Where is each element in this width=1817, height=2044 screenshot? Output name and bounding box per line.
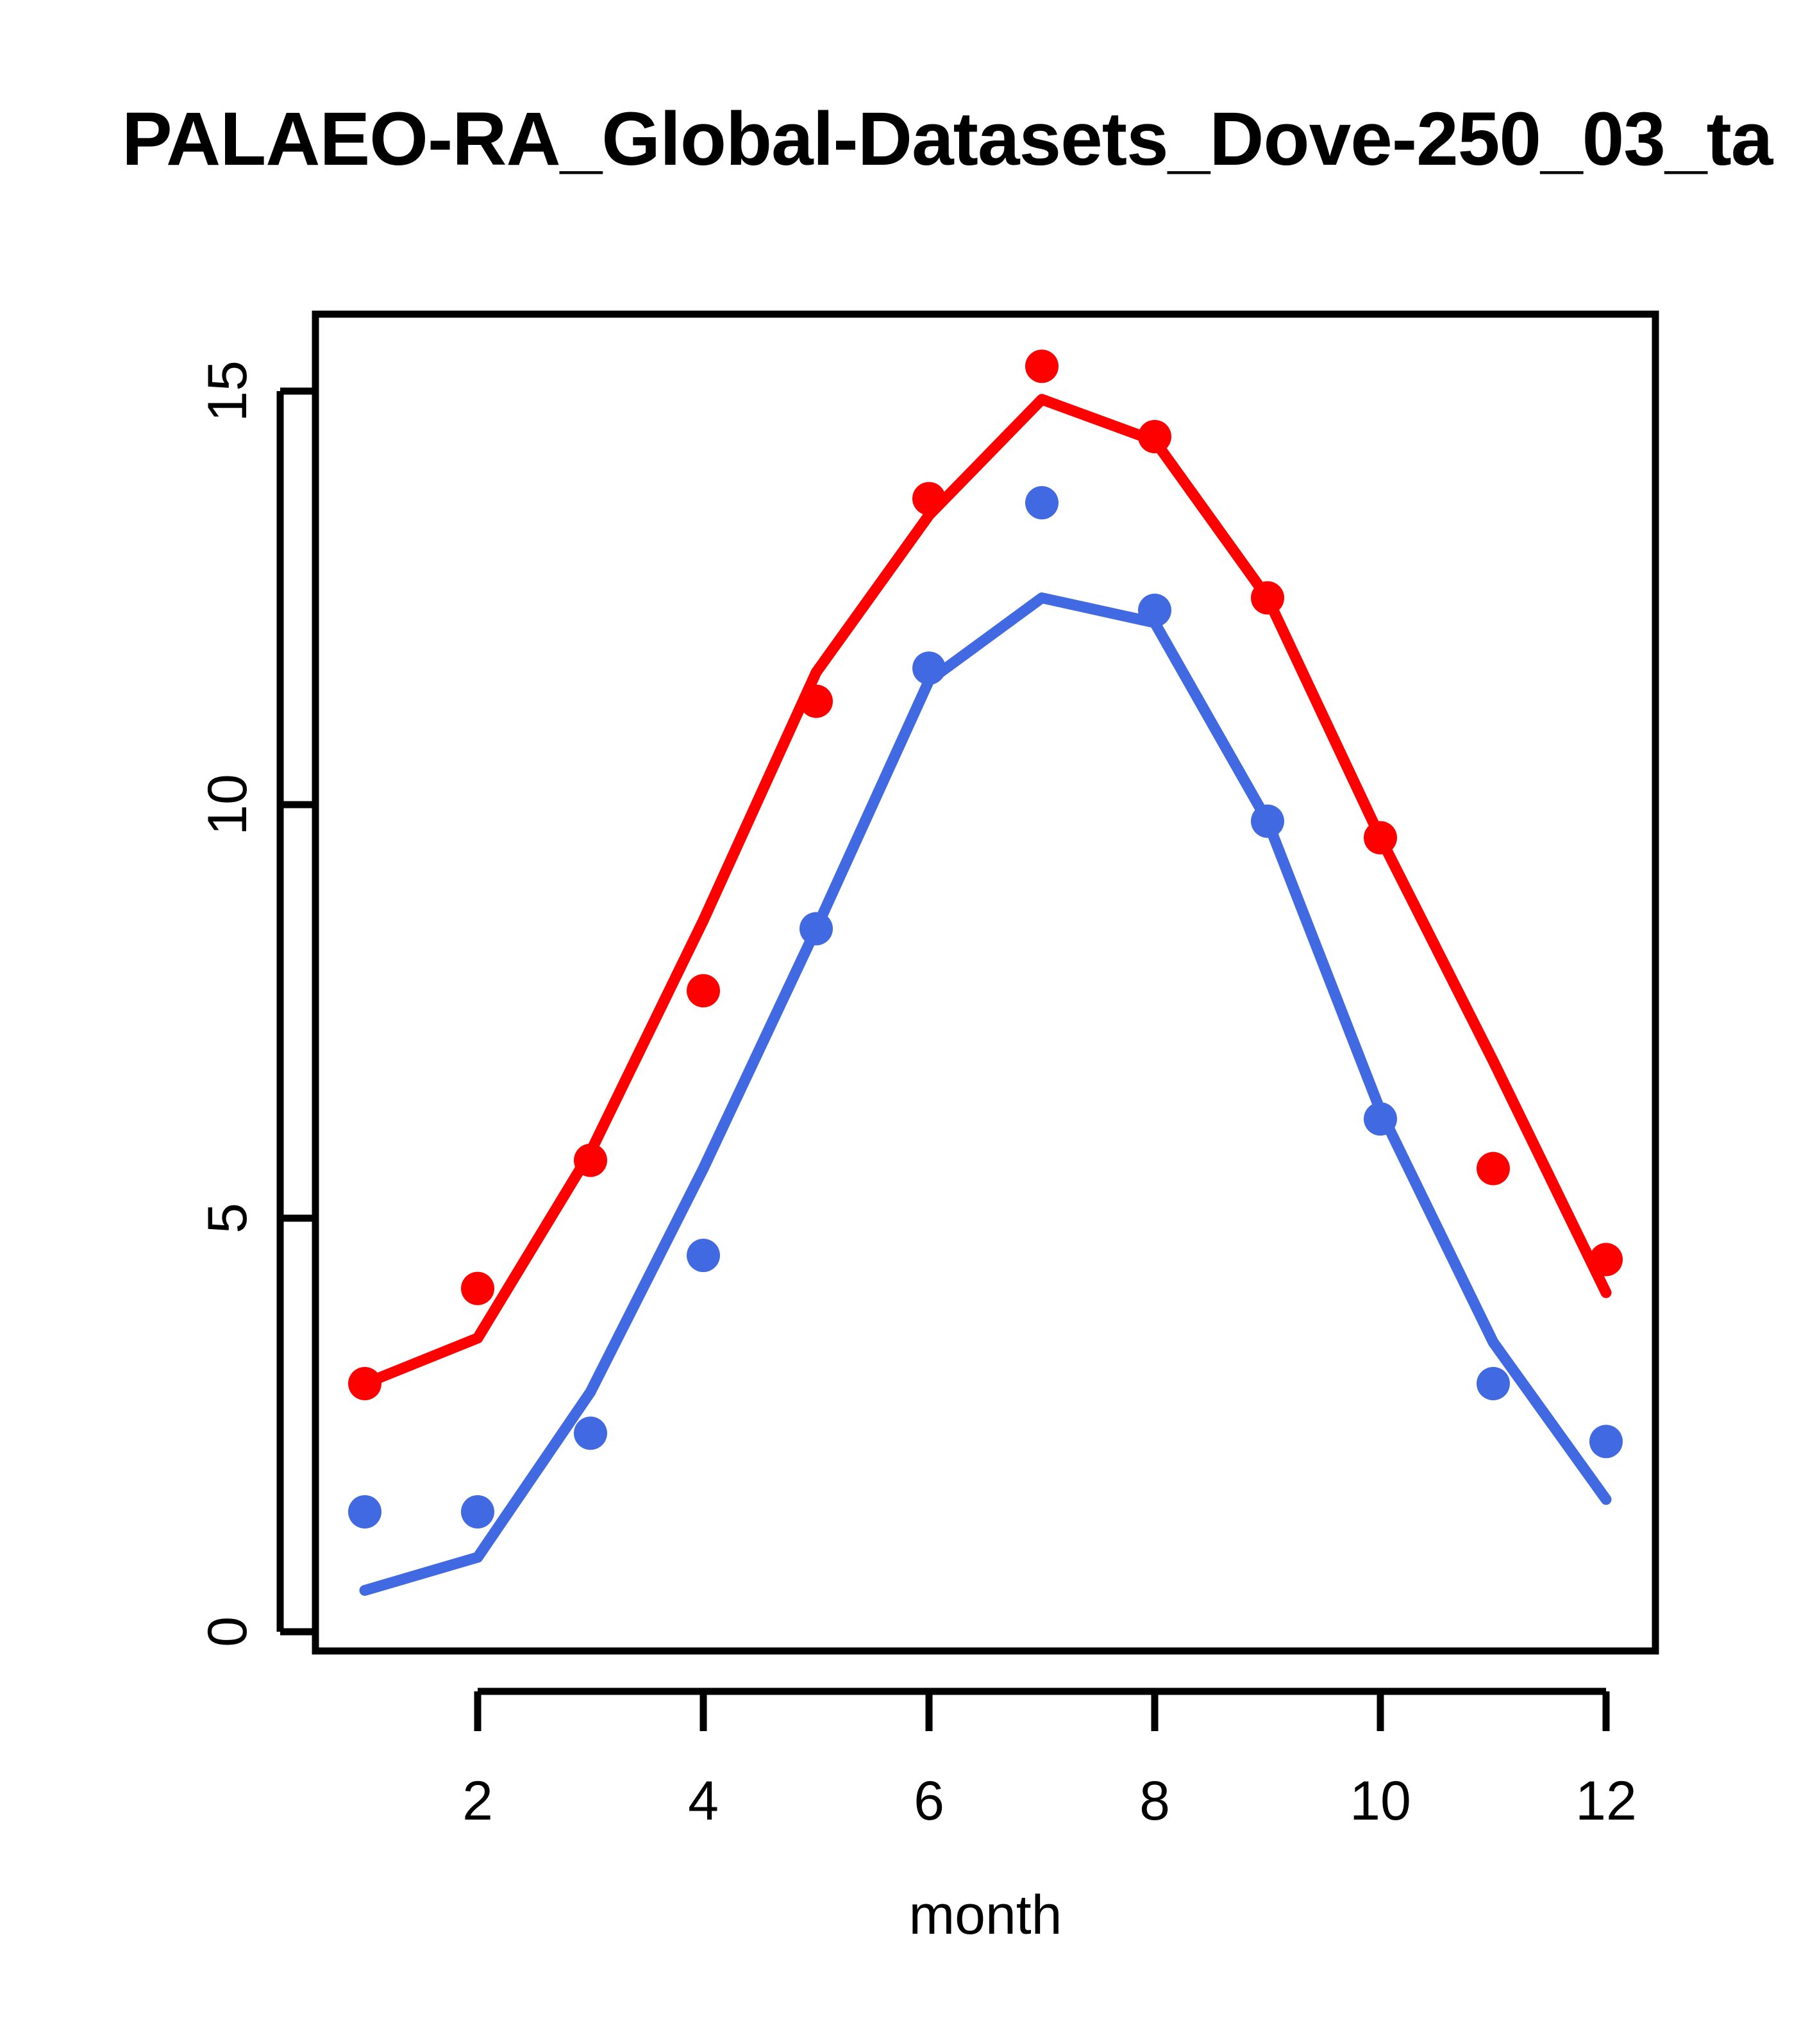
data-point: [1138, 594, 1171, 627]
x-axis-tick-label: 2: [462, 1770, 493, 1832]
data-point: [1251, 805, 1284, 838]
data-point: [1364, 821, 1397, 855]
data-point: [1138, 420, 1171, 453]
data-point: [1025, 349, 1059, 383]
y-axis: 051015: [197, 360, 315, 1647]
x-axis: 24681012: [462, 1691, 1637, 1832]
x-axis-tick-label: 10: [1350, 1770, 1411, 1832]
series-line-red-line: [365, 399, 1606, 1384]
series-line-blue-line: [365, 598, 1606, 1591]
y-axis-tick-label: 10: [197, 774, 258, 835]
data-point: [1025, 486, 1059, 519]
chart-root: PALAEO-RA_Global-Datasets_Dove-250_03_ta…: [0, 0, 1817, 2044]
data-point: [1477, 1152, 1510, 1185]
data-point: [912, 482, 946, 515]
data-point: [912, 651, 946, 685]
x-axis-title: month: [908, 1884, 1062, 1946]
x-axis-tick-label: 12: [1575, 1770, 1637, 1832]
data-point: [687, 974, 720, 1007]
series-lines-group: [365, 399, 1606, 1591]
x-axis-tick-label: 6: [914, 1770, 944, 1832]
data-point: [348, 1367, 381, 1400]
data-point: [574, 1416, 607, 1450]
data-point: [687, 1239, 720, 1272]
data-point: [1251, 582, 1284, 615]
data-point: [1589, 1425, 1623, 1458]
data-point: [574, 1144, 607, 1177]
data-point: [348, 1495, 381, 1529]
data-point: [461, 1495, 494, 1529]
x-axis-tick-label: 8: [1139, 1770, 1170, 1832]
y-axis-tick-label: 15: [197, 360, 258, 422]
data-point: [1477, 1367, 1510, 1400]
data-point: [461, 1272, 494, 1305]
y-axis-tick-label: 5: [197, 1203, 258, 1234]
y-axis-tick-label: 0: [197, 1616, 258, 1647]
x-axis-tick-label: 4: [688, 1770, 719, 1832]
data-point: [1364, 1102, 1397, 1135]
line-chart-plot: 051015 24681012 month: [0, 0, 1817, 2044]
data-point: [800, 912, 833, 946]
data-point: [1589, 1243, 1623, 1277]
data-point: [800, 685, 833, 718]
